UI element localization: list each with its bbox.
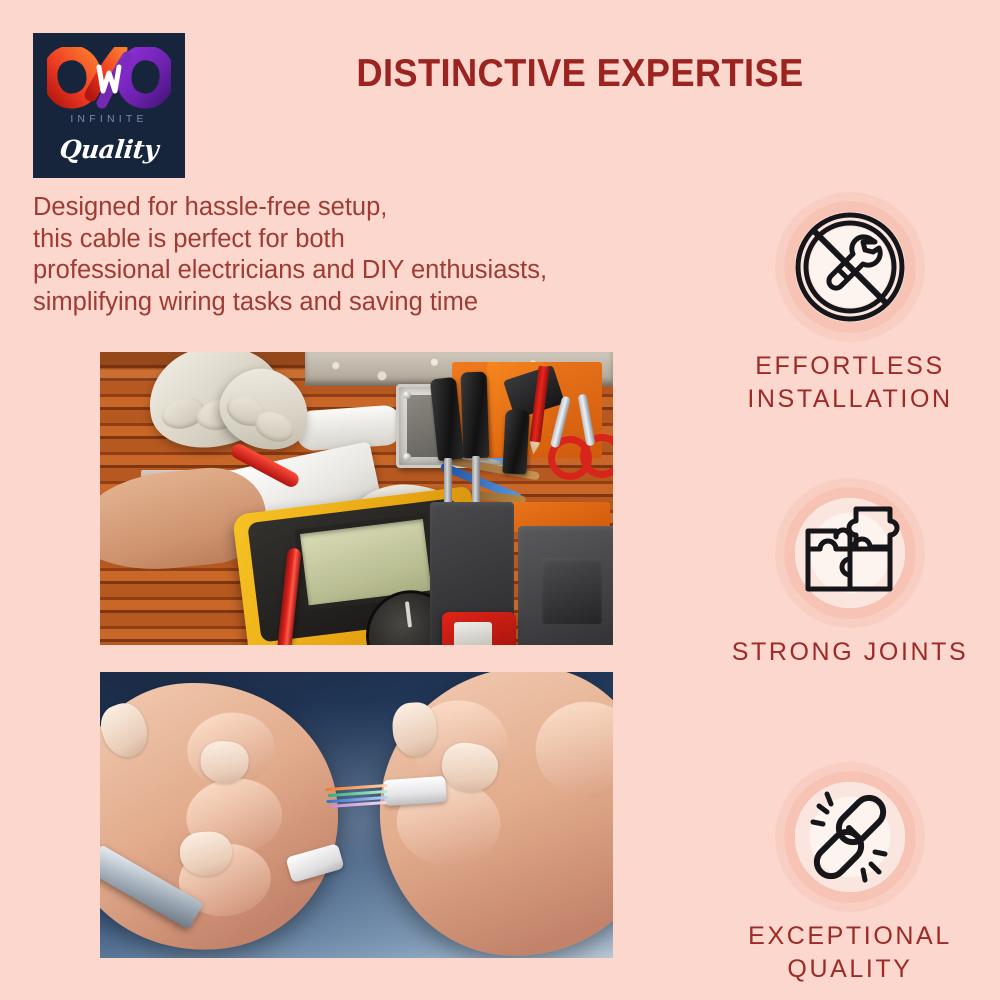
infinity-logo-icon <box>47 47 171 109</box>
tape-measure <box>442 612 516 645</box>
screwdriver-handle <box>461 372 490 459</box>
page-title: DISTINCTIVE EXPERTISE <box>217 52 942 96</box>
screwdriver-handle <box>502 409 529 474</box>
feature-label-line: EXCEPTIONAL <box>700 920 1000 953</box>
feature-effortless-installation: EFFORTLESS INSTALLATION <box>700 192 1000 416</box>
feature-label: EFFORTLESS INSTALLATION <box>700 350 1000 416</box>
infographic-canvas: INFINITE Quality DISTINCTIVE EXPERTISE D… <box>0 0 1000 1000</box>
description-line: professional electricians and DIY enthus… <box>33 255 713 287</box>
feature-exceptional-quality: EXCEPTIONAL QUALITY <box>700 762 1000 986</box>
puzzle-pieces-icon <box>775 478 925 628</box>
feature-label-line: STRONG JOINTS <box>700 636 1000 669</box>
description-line: this cable is perfect for both <box>33 224 713 256</box>
description-paragraph: Designed for hassle-free setup, this cab… <box>33 192 713 318</box>
feature-label: EXCEPTIONAL QUALITY <box>700 920 1000 986</box>
logo-word-infinite: INFINITE <box>33 113 185 125</box>
description-line: simplifying wiring tasks and saving time <box>33 287 713 319</box>
feature-label-line: INSTALLATION <box>700 383 1000 416</box>
cable-jacket <box>383 776 447 806</box>
description-line: Designed for hassle-free setup, <box>33 192 713 224</box>
brand-logo: INFINITE Quality <box>33 33 185 178</box>
photo-electrician-wiring <box>100 352 613 645</box>
feature-label: STRONG JOINTS <box>700 636 1000 669</box>
feature-strong-joints: STRONG JOINTS <box>700 478 1000 669</box>
no-tools-wrench-icon <box>775 192 925 342</box>
logo-word-quality: Quality <box>33 135 185 164</box>
chain-link-icon <box>775 762 925 912</box>
feature-label-line: QUALITY <box>700 953 1000 986</box>
feature-label-line: EFFORTLESS <box>700 350 1000 383</box>
photo-hands-stripped-cable <box>100 672 613 958</box>
tool-belt <box>430 362 613 645</box>
